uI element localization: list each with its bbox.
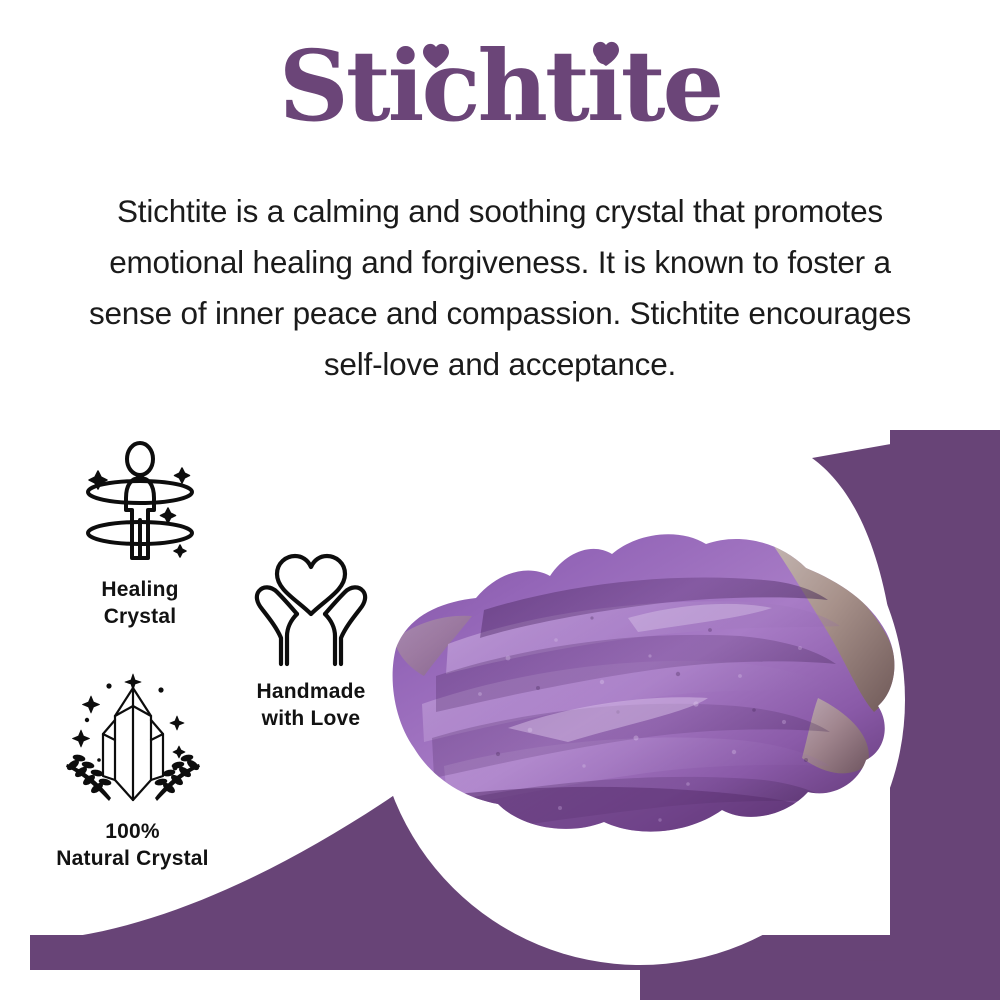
page-title-text: Stichtite <box>279 34 721 143</box>
aura-figure-icon <box>70 440 210 570</box>
purple-bottom-bar <box>30 935 970 970</box>
stichtite-specimen-photo <box>388 498 908 858</box>
page-title: Stichtite <box>240 34 760 144</box>
badge-healing-crystal: Healing Crystal <box>45 440 235 630</box>
title-block: Stichtite <box>0 34 1000 144</box>
badge-natural-crystal: 100% Natural Crystal <box>25 672 240 872</box>
description-text: Stichtite is a calming and soothing crys… <box>80 186 920 390</box>
crystal-point-laurel-icon <box>53 672 213 812</box>
badge-label: 100% Natural Crystal <box>25 818 240 872</box>
badge-label: Healing Crystal <box>45 576 235 630</box>
badge-handmade-with-love: Handmade with Love <box>222 552 400 732</box>
poster-canvas: Stichtite Stichtite is a calming and soo… <box>0 0 1000 1000</box>
heart-in-hands-icon <box>247 552 375 672</box>
badge-label: Handmade with Love <box>222 678 400 732</box>
